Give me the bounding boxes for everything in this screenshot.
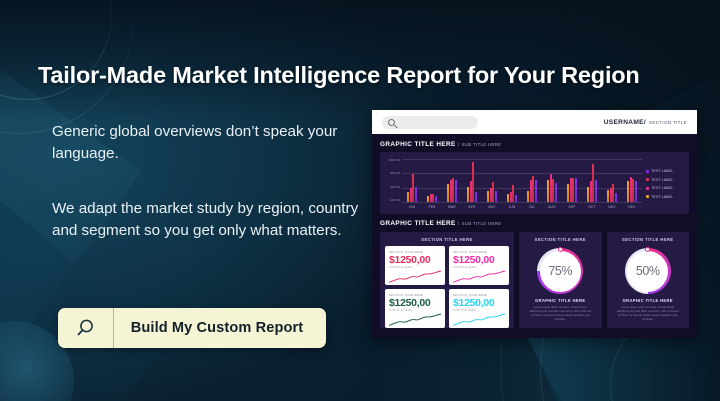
legend-item[interactable]: TEXT LABEL	[646, 169, 684, 173]
legend-swatch	[646, 170, 649, 173]
kpi-section-title: GRAPHIC TITLE HERE / SUB TITLE HERE	[380, 220, 689, 227]
kpi-card-subtitle: SUBTITLE HERE	[389, 309, 441, 312]
y-tick-label: 800 M	[385, 171, 402, 175]
bar-group	[487, 159, 498, 202]
bar-group	[427, 159, 438, 202]
bar-chart-card: 1000 M800 M400 M100 M JANFEBMARAPRMAYJUN…	[380, 152, 689, 214]
y-tick-label: 1000 M	[385, 158, 402, 162]
x-tick-label: JUN	[502, 205, 522, 209]
x-tick-label: JAN	[402, 205, 422, 209]
bar	[567, 184, 569, 202]
gauge-caption: GRAPHIC TITLE HERE	[535, 298, 585, 303]
sparkline-chart	[453, 313, 505, 326]
x-tick-label: AUG	[542, 205, 562, 209]
x-tick-label: SEP	[562, 205, 582, 209]
bar	[627, 181, 629, 202]
x-tick-label: JUL	[522, 205, 542, 209]
x-tick-label: FEB	[422, 205, 442, 209]
bar	[575, 178, 577, 202]
bar	[595, 180, 597, 202]
bar	[455, 180, 457, 202]
dashboard-lower-row: SECTION TITLE HERE SECTION TITLE HERE$12…	[380, 232, 689, 328]
gauge-inner: 75%	[540, 251, 581, 292]
gauge-body-text: Lorem ipsum dolor sit amet, consectetuer…	[612, 306, 685, 322]
legend-item[interactable]: TEXT LABEL	[646, 178, 684, 182]
x-axis: JANFEBMARAPRMAYJUNJULAUGSEPOCTNOVDEC	[402, 202, 642, 211]
legend-label: TEXT LABEL	[651, 178, 673, 182]
dashboard-mockup: USERNAME/ SECTION TITLE GRAPHIC TITLE HE…	[372, 110, 697, 338]
kpi-card-value: $1250,00	[389, 297, 441, 309]
kpi-card-subtitle: SUBTITLE HERE	[453, 309, 505, 312]
kpi-section-separator: /	[458, 221, 460, 226]
sparkline-chart	[389, 313, 441, 326]
kpi-panel-header: SECTION TITLE HERE	[385, 237, 509, 242]
x-tick-label: APR	[462, 205, 482, 209]
kpi-panel: SECTION TITLE HERE SECTION TITLE HERE$12…	[380, 232, 514, 328]
y-axis: 1000 M800 M400 M100 M	[385, 157, 402, 211]
bar	[615, 193, 617, 202]
chart-section-title: GRAPHIC TITLE HERE / SUB TITLE HERE	[380, 141, 689, 148]
kpi-card[interactable]: SECTION TITLE HERE$1250,00SUBTITLE HERE	[449, 246, 509, 285]
search-input[interactable]	[382, 116, 478, 129]
sparkline-chart	[389, 270, 441, 283]
bar	[495, 191, 497, 202]
dashboard-body: GRAPHIC TITLE HERE / SUB TITLE HERE 1000…	[372, 134, 697, 334]
y-tick-label: 100 M	[385, 198, 402, 202]
chart-section-separator: /	[458, 142, 460, 147]
chart-section-subtitle: SUB TITLE HERE	[462, 142, 502, 147]
bar	[407, 192, 409, 202]
x-tick-label: MAR	[442, 205, 462, 209]
bar	[515, 195, 517, 202]
bar-group	[507, 159, 518, 202]
donut-gauge: 50%	[625, 248, 671, 294]
bar	[635, 181, 637, 202]
bar	[487, 191, 489, 202]
legend-label: TEXT LABEL	[651, 195, 673, 199]
bar-group	[587, 159, 598, 202]
magnifier-icon	[58, 308, 114, 348]
gauge-inner: 50%	[627, 251, 668, 292]
paragraph-primary: Generic global overviews don’t speak you…	[52, 121, 362, 164]
bar-group	[467, 159, 478, 202]
chart-section-title-main: GRAPHIC TITLE HERE	[380, 141, 456, 148]
bar-group	[567, 159, 578, 202]
kpi-card[interactable]: SECTION TITLE HERE$1250,00SUBTITLE HERE	[385, 289, 445, 328]
page-title: Tailor-Made Market Intelligence Report f…	[38, 62, 664, 89]
plot: JANFEBMARAPRMAYJUNJULAUGSEPOCTNOVDEC	[402, 157, 642, 211]
kpi-card-value: $1250,00	[453, 297, 505, 309]
gauge-panel-2: SECTION TITLE HERE50%GRAPHIC TITLE HEREL…	[607, 232, 690, 328]
gauge-knob[interactable]	[558, 247, 563, 252]
bar-group	[447, 159, 458, 202]
cta-label: Build My Custom Report	[114, 320, 326, 336]
x-tick-label: OCT	[582, 205, 602, 209]
search-icon	[388, 119, 395, 126]
legend-label: TEXT LABEL	[651, 169, 673, 173]
kpi-card[interactable]: SECTION TITLE HERE$1250,00SUBTITLE HERE	[449, 289, 509, 328]
bar	[547, 180, 549, 202]
bar-group	[627, 159, 638, 202]
paragraph-secondary: We adapt the market study by region, cou…	[52, 198, 362, 241]
gauge-header: SECTION TITLE HERE	[622, 237, 673, 242]
legend-item[interactable]: TEXT LABEL	[646, 186, 684, 190]
gauge-body-text: Lorem ipsum dolor sit amet, consectetuer…	[524, 306, 597, 322]
gauge-value: 75%	[548, 264, 572, 278]
section-title-label: SECTION TITLE	[649, 120, 687, 125]
dashboard-topbar: USERNAME/ SECTION TITLE	[372, 110, 697, 134]
gauge-caption: GRAPHIC TITLE HERE	[623, 298, 673, 303]
bar-group	[407, 159, 418, 202]
build-my-custom-report-button[interactable]: Build My Custom Report	[58, 308, 326, 348]
kpi-section-title-main: GRAPHIC TITLE HERE	[380, 220, 456, 227]
kpi-card-grid: SECTION TITLE HERE$1250,00SUBTITLE HERES…	[385, 246, 509, 328]
bar	[535, 180, 537, 202]
sparkline-chart	[453, 270, 505, 283]
donut-gauge: 75%	[537, 248, 583, 294]
kpi-section-subtitle: SUB TITLE HERE	[462, 221, 502, 226]
bar	[467, 187, 469, 202]
kpi-card-value: $1250,00	[389, 254, 441, 266]
bar	[507, 194, 509, 202]
gauge-header: SECTION TITLE HERE	[535, 237, 586, 242]
bar	[527, 191, 529, 202]
legend-swatch	[646, 178, 649, 181]
kpi-card-subtitle: SUBTITLE HERE	[389, 266, 441, 269]
x-tick-label: MAY	[482, 205, 502, 209]
bar	[475, 192, 477, 202]
bar	[607, 190, 609, 202]
legend-swatch	[646, 187, 649, 190]
bar-chart-plot-area: 1000 M800 M400 M100 M JANFEBMARAPRMAYJUN…	[385, 157, 642, 211]
bar-groups	[402, 159, 642, 202]
kpi-card[interactable]: SECTION TITLE HERE$1250,00SUBTITLE HERE	[385, 246, 445, 285]
legend-swatch	[646, 195, 649, 198]
bar-group	[547, 159, 558, 202]
slide-content: Tailor-Made Market Intelligence Report f…	[0, 0, 372, 401]
bar-group	[527, 159, 538, 202]
username-label: USERNAME/	[604, 119, 646, 126]
legend-label: TEXT LABEL	[651, 186, 673, 190]
gauge-value: 50%	[636, 264, 660, 278]
kpi-card-value: $1250,00	[453, 254, 505, 266]
kpi-card-subtitle: SUBTITLE HERE	[453, 266, 505, 269]
chart-legend: TEXT LABELTEXT LABELTEXT LABELTEXT LABEL	[642, 157, 684, 211]
bar	[415, 187, 417, 202]
user-block[interactable]: USERNAME/ SECTION TITLE	[604, 119, 687, 126]
x-tick-label: DEC	[622, 205, 642, 209]
y-tick-label: 400 M	[385, 185, 402, 189]
bar	[447, 184, 449, 202]
bar-group	[607, 159, 618, 202]
legend-item[interactable]: TEXT LABEL	[646, 195, 684, 199]
bar	[587, 187, 589, 202]
bar	[555, 183, 557, 202]
gauge-panel-1: SECTION TITLE HERE75%GRAPHIC TITLE HEREL…	[519, 232, 602, 328]
x-tick-label: NOV	[602, 205, 622, 209]
